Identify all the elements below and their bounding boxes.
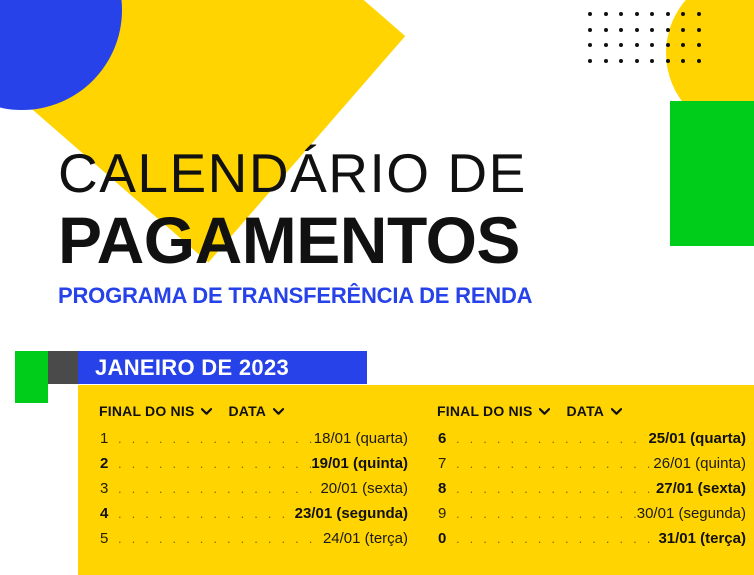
chevron-down-icon[interactable] — [201, 406, 212, 417]
grid-dot — [619, 43, 623, 47]
grid-dot — [681, 28, 685, 32]
row-payment-date: 27/01 (sexta) — [656, 480, 746, 497]
row-dot-leader: . . . . . . . . . . . . . . . . . . . . — [116, 456, 311, 471]
chevron-down-icon[interactable] — [273, 406, 284, 417]
row-dot-leader: . . . . . . . . . . . . . . . . . . . . — [454, 531, 658, 546]
grid-dot — [619, 12, 623, 16]
column-header-data[interactable]: DATA — [566, 403, 604, 419]
row-payment-date: 23/01 (segunda) — [295, 505, 408, 522]
row-dot-leader: . . . . . . . . . . . . . . . . . . . . — [116, 431, 314, 446]
row-payment-date: 30/01 (segunda) — [637, 505, 746, 522]
table-row: 4. . . . . . . . . . . . . . . . . . . .… — [95, 505, 408, 530]
column-header-final-do-nis[interactable]: FINAL DO NIS — [437, 403, 532, 419]
table-header-row: FINAL DO NISDATA — [95, 403, 408, 419]
row-nis-digit: 2 — [95, 455, 116, 472]
grid-dot — [635, 28, 639, 32]
grid-dot — [619, 59, 623, 63]
grid-dot — [604, 43, 608, 47]
chevron-down-icon[interactable] — [611, 406, 622, 417]
table-row: 8. . . . . . . . . . . . . . . . . . . .… — [433, 480, 746, 505]
grid-dot — [666, 59, 670, 63]
column-header-data[interactable]: DATA — [228, 403, 266, 419]
grid-dot — [666, 12, 670, 16]
row-nis-digit: 5 — [95, 530, 116, 547]
row-dot-leader: . . . . . . . . . . . . . . . . . . . . — [116, 531, 323, 546]
grid-dot — [697, 43, 701, 47]
row-nis-digit: 7 — [433, 455, 454, 472]
subtitle-programa: PROGRAMA DE TRANSFERÊNCIA DE RENDA — [58, 283, 698, 309]
grid-dot — [697, 12, 701, 16]
grid-dot — [681, 12, 685, 16]
row-payment-date: 20/01 (sexta) — [320, 480, 408, 497]
row-nis-digit: 8 — [433, 480, 454, 497]
payment-table: FINAL DO NISDATA1. . . . . . . . . . . .… — [78, 385, 754, 555]
title-line-calendario: CALENDÁRIO DE — [58, 142, 698, 204]
row-payment-date: 19/01 (quinta) — [311, 455, 408, 472]
dot-grid-pattern — [588, 12, 704, 70]
row-dot-leader: . . . . . . . . . . . . . . . . . . . . — [454, 431, 648, 446]
row-dot-leader: . . . . . . . . . . . . . . . . . . . . — [454, 506, 637, 521]
month-banner: JANEIRO DE 2023 — [78, 351, 367, 384]
month-banner-label: JANEIRO DE 2023 — [78, 355, 289, 381]
chevron-down-icon[interactable] — [539, 406, 550, 417]
table-row: 2. . . . . . . . . . . . . . . . . . . .… — [95, 455, 408, 480]
grid-dot — [681, 43, 685, 47]
table-header-row: FINAL DO NISDATA — [433, 403, 746, 419]
table-row: 7. . . . . . . . . . . . . . . . . . . .… — [433, 455, 746, 480]
banner-green-block — [15, 351, 48, 403]
grid-dot — [588, 28, 592, 32]
payment-table-panel: FINAL DO NISDATA1. . . . . . . . . . . .… — [78, 385, 754, 575]
grid-dot — [635, 43, 639, 47]
grid-dot — [635, 12, 639, 16]
grid-dot — [604, 59, 608, 63]
row-nis-digit: 3 — [95, 480, 116, 497]
row-dot-leader: . . . . . . . . . . . . . . . . . . . . — [116, 506, 295, 521]
grid-dot — [697, 59, 701, 63]
column-header-final-do-nis[interactable]: FINAL DO NIS — [99, 403, 194, 419]
grid-dot — [666, 43, 670, 47]
row-dot-leader: . . . . . . . . . . . . . . . . . . . . — [454, 456, 653, 471]
page-title: CALENDÁRIO DE PAGAMENTOS PROGRAMA DE TRA… — [58, 142, 698, 309]
row-dot-leader: . . . . . . . . . . . . . . . . . . . . — [454, 481, 656, 496]
grid-dot — [604, 12, 608, 16]
row-nis-digit: 4 — [95, 505, 116, 522]
grid-dot — [604, 28, 608, 32]
row-dot-leader: . . . . . . . . . . . . . . . . . . . . — [116, 481, 320, 496]
grid-dot — [666, 28, 670, 32]
grid-dot — [635, 59, 639, 63]
row-payment-date: 25/01 (quarta) — [648, 430, 746, 447]
grid-dot — [650, 28, 654, 32]
table-row: 3. . . . . . . . . . . . . . . . . . . .… — [95, 480, 408, 505]
row-nis-digit: 1 — [95, 430, 116, 447]
grid-dot — [681, 59, 685, 63]
banner-gray-block — [48, 351, 79, 384]
table-row: 1. . . . . . . . . . . . . . . . . . . .… — [95, 430, 408, 455]
row-payment-date: 24/01 (terça) — [323, 530, 408, 547]
table-row: 6. . . . . . . . . . . . . . . . . . . .… — [433, 430, 746, 455]
grid-dot — [697, 28, 701, 32]
payment-table-column-1: FINAL DO NISDATA1. . . . . . . . . . . .… — [78, 403, 416, 555]
table-row: 0. . . . . . . . . . . . . . . . . . . .… — [433, 530, 746, 555]
grid-dot — [650, 12, 654, 16]
grid-dot — [588, 12, 592, 16]
grid-dot — [619, 28, 623, 32]
grid-dot — [588, 43, 592, 47]
row-payment-date: 26/01 (quinta) — [653, 455, 746, 472]
row-payment-date: 18/01 (quarta) — [314, 430, 408, 447]
row-nis-digit: 0 — [433, 530, 454, 547]
row-nis-digit: 6 — [433, 430, 454, 447]
title-line-pagamentos: PAGAMENTOS — [58, 206, 698, 274]
table-row: 5. . . . . . . . . . . . . . . . . . . .… — [95, 530, 408, 555]
row-payment-date: 31/01 (terça) — [658, 530, 746, 547]
payment-calendar-poster: CALENDÁRIO DE PAGAMENTOS PROGRAMA DE TRA… — [0, 0, 754, 575]
grid-dot — [650, 43, 654, 47]
payment-table-column-2: FINAL DO NISDATA6. . . . . . . . . . . .… — [416, 403, 754, 555]
grid-dot — [588, 59, 592, 63]
row-nis-digit: 9 — [433, 505, 454, 522]
grid-dot — [650, 59, 654, 63]
table-row: 9. . . . . . . . . . . . . . . . . . . .… — [433, 505, 746, 530]
